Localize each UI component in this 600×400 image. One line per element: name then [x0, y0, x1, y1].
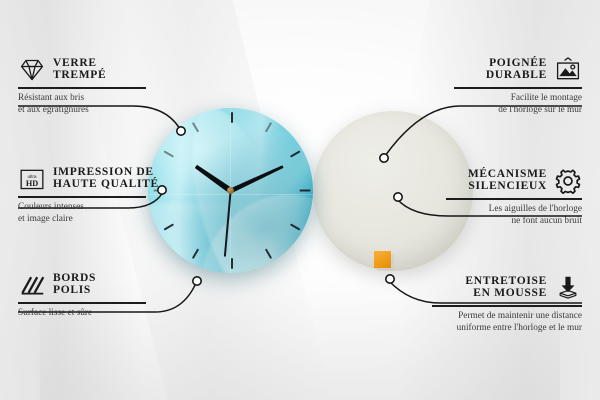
hand-cap	[227, 187, 234, 194]
clock-front-view	[148, 108, 313, 273]
divider	[18, 87, 146, 89]
connector-dot	[193, 277, 201, 285]
feature-title-line2: EN MOUSSE	[465, 288, 547, 300]
feature-title: ENTRETOISE EN MOUSSE	[465, 276, 547, 300]
feature-title-line2: SILENCIEUX	[468, 181, 547, 193]
feature-description: Facilite le montage de l'horloge sur le …	[454, 92, 582, 117]
feature-verre-trempe[interactable]: VERRE TREMPÉ Résistant aux bris et aux é…	[18, 57, 146, 117]
connector-dot	[386, 275, 394, 283]
feature-header: ultra HD IMPRESSION DE HAUTE QUALITÉ	[18, 166, 146, 192]
feature-header: ENTRETOISE EN MOUSSE	[432, 275, 582, 301]
feature-entretoise-en-mousse[interactable]: ENTRETOISE EN MOUSSE Permet de maintenir…	[432, 275, 582, 335]
feature-title-line2: TREMPÉ	[53, 70, 106, 82]
ultra-hd-icon: ultra HD	[18, 166, 46, 192]
feature-bords-polis[interactable]: BORDS POLIS Surface lisse et sûre	[18, 272, 146, 319]
feature-title: POIGNÉE DURABLE	[486, 58, 547, 82]
picture-hanger-icon	[554, 57, 582, 83]
desc-line1: Permet de maintenir une distance	[432, 310, 582, 323]
desc-line2: et image claire	[18, 213, 146, 226]
feature-title: IMPRESSION DE HAUTE QUALITÉ	[53, 167, 159, 191]
desc-line2: ne font aucun bruit	[446, 215, 582, 228]
feature-description: Résistant aux bris et aux égratignures	[18, 92, 146, 117]
desc-line1: Couleurs intenses	[18, 201, 146, 214]
desc-line1: Résistant aux bris	[18, 92, 146, 105]
gear-icon	[554, 168, 582, 194]
feature-description: Permet de maintenir une distance uniform…	[432, 310, 582, 335]
desc-line2: uniforme entre l'horloge et le mur	[432, 322, 582, 335]
desc-line1: Surface lisse et sûre	[18, 307, 146, 320]
feature-header: MÉCANISME SILENCIEUX	[446, 168, 582, 194]
feature-title: BORDS POLIS	[53, 273, 96, 297]
foam-spacer	[374, 251, 391, 268]
feature-description: Les aiguilles de l'horloge ne font aucun…	[446, 203, 582, 228]
feature-title-line2: DURABLE	[486, 70, 547, 82]
clock-tick	[231, 112, 233, 123]
desc-line1: Facilite le montage	[454, 92, 582, 105]
divider	[18, 302, 146, 304]
svg-text:HD: HD	[26, 179, 38, 188]
feature-mecanisme-silencieux[interactable]: MÉCANISME SILENCIEUX Les aiguilles de l'…	[446, 168, 582, 228]
feature-header: BORDS POLIS	[18, 272, 146, 298]
foam-spacer-icon	[554, 275, 582, 301]
divider	[446, 198, 582, 200]
feature-poignee-durable[interactable]: POIGNÉE DURABLE Facilite le montage de l…	[454, 57, 582, 117]
feature-title-line2: POLIS	[53, 285, 96, 297]
feature-header: POIGNÉE DURABLE	[454, 57, 582, 83]
desc-line2: de l'horloge sur le mur	[454, 104, 582, 117]
polished-edges-icon	[18, 272, 46, 298]
feature-title: VERRE TREMPÉ	[53, 58, 106, 82]
clock-tick	[299, 190, 310, 192]
clock-tick	[231, 258, 233, 269]
infographic-canvas: VERRE TREMPÉ Résistant aux bris et aux é…	[0, 0, 600, 400]
feature-header: VERRE TREMPÉ	[18, 57, 146, 83]
feature-description: Couleurs intenses et image claire	[18, 201, 146, 226]
desc-line2: et aux égratignures	[18, 104, 146, 117]
divider	[18, 196, 146, 198]
divider	[432, 305, 582, 307]
diamond-icon	[18, 57, 46, 83]
feature-title-line2: HAUTE QUALITÉ	[53, 179, 159, 191]
desc-line1: Les aiguilles de l'horloge	[446, 203, 582, 216]
feature-impression-haute-qualite[interactable]: ultra HD IMPRESSION DE HAUTE QUALITÉ Cou…	[18, 166, 146, 226]
feature-title: MÉCANISME SILENCIEUX	[468, 169, 547, 193]
divider	[454, 87, 582, 89]
feature-description: Surface lisse et sûre	[18, 307, 146, 320]
